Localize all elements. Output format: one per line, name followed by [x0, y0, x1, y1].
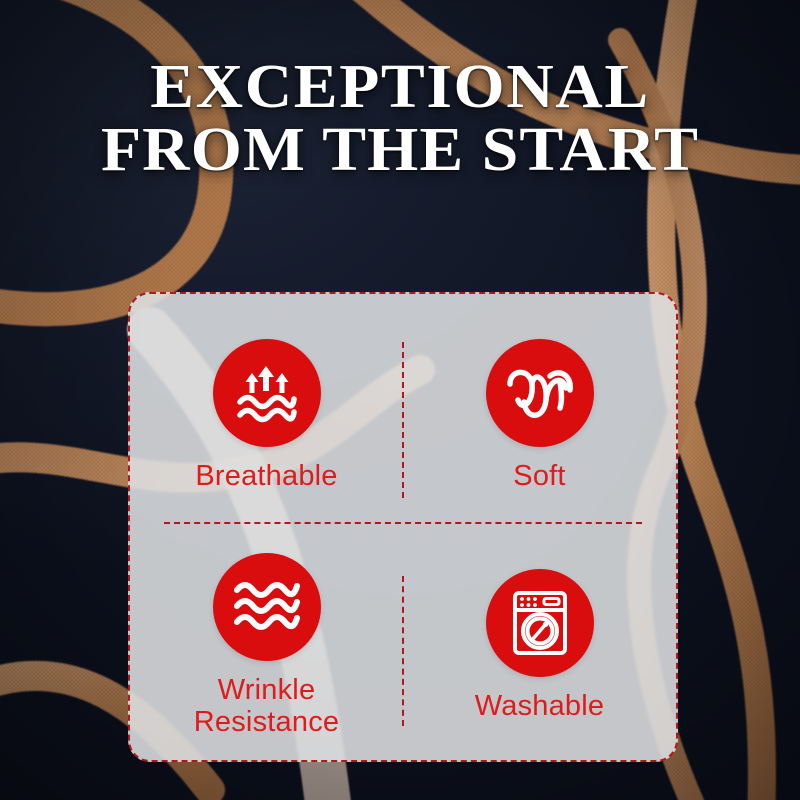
wrinkle-resistance-icon [213, 553, 321, 661]
feature-wrinkle-resistance: Wrinkle Resistance [130, 527, 403, 760]
breathable-icon [213, 339, 321, 447]
headline-line-2: FROM THE START [0, 119, 800, 182]
page-title: EXCEPTIONAL FROM THE START [0, 56, 800, 182]
soft-icon [486, 339, 594, 447]
feature-label-soft: Soft [513, 461, 565, 492]
feature-label-washable: Washable [475, 691, 604, 722]
washable-icon [486, 569, 594, 677]
feature-card: Breathable Soft [128, 292, 678, 762]
product-feature-poster: EXCEPTIONAL FROM THE START [0, 0, 800, 800]
feature-label-breathable: Breathable [195, 461, 337, 492]
feature-breathable: Breathable [130, 294, 403, 527]
feature-grid: Breathable Soft [130, 294, 676, 760]
headline-line-1: EXCEPTIONAL [0, 56, 800, 119]
feature-washable: Washable [403, 527, 676, 760]
feature-label-wrinkle-resistance: Wrinkle Resistance [194, 675, 339, 738]
feature-soft: Soft [403, 294, 676, 527]
